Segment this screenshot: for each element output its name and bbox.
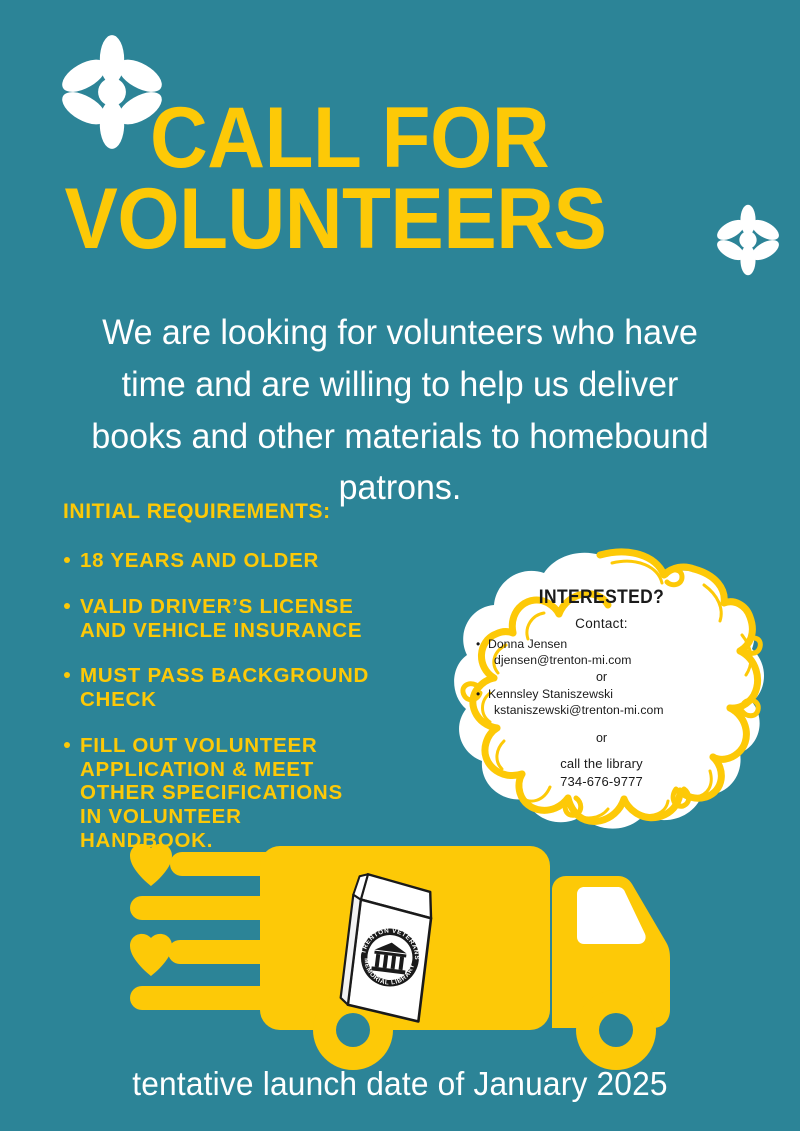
- call-library-label: call the library: [474, 755, 729, 772]
- contact-cloud-callout: INTERESTED? Contact: Donna Jensen djense…: [432, 545, 767, 835]
- call-library-block: call the library 734-676-9777: [474, 755, 729, 789]
- poster-canvas: CALL FOR VOLUNTEERS We are looking for v…: [0, 0, 800, 1131]
- delivery-truck-illustration: TRENTON VETERANS MEMORIAL LIBRARY: [120, 838, 690, 1083]
- contact-entry: Donna Jensen djensen@trenton-mi.com: [474, 637, 729, 668]
- contact-name: Donna Jensen: [488, 637, 729, 653]
- cloud-content: INTERESTED? Contact: Donna Jensen djense…: [474, 587, 729, 790]
- contact-email[interactable]: djensen@trenton-mi.com: [488, 653, 729, 669]
- page-title: CALL FOR VOLUNTEERS: [150, 98, 727, 261]
- headline-line-2: VOLUNTEERS: [64, 179, 726, 261]
- intro-paragraph: We are looking for volunteers who have t…: [80, 307, 720, 514]
- contact-label: Contact:: [474, 616, 729, 631]
- library-phone-number[interactable]: 734-676-9777: [474, 773, 729, 790]
- requirement-item: VALID DRIVER’S LICENSE AND VEHICLE INSUR…: [63, 595, 435, 643]
- requirements-section: INITIAL REQUIREMENTS: 18 YEARS AND OLDER…: [63, 500, 435, 875]
- library-book-icon: TRENTON VETERANS MEMORIAL LIBRARY: [339, 873, 435, 1022]
- or-separator: or: [474, 670, 729, 684]
- or-separator: or: [474, 731, 729, 745]
- requirement-item: 18 YEARS AND OLDER: [63, 549, 435, 573]
- headline-line-1: CALL FOR: [150, 98, 727, 180]
- contact-entry: Kennsley Staniszewski kstaniszewski@tren…: [474, 687, 729, 718]
- requirements-heading: INITIAL REQUIREMENTS:: [63, 500, 435, 524]
- launch-date-footer: tentative launch date of January 2025: [16, 1065, 784, 1103]
- heart-icon: [130, 934, 172, 976]
- interested-heading: INTERESTED?: [484, 587, 719, 609]
- contact-name: Kennsley Staniszewski: [488, 687, 729, 703]
- requirement-item: MUST PASS BACKGROUND CHECK: [63, 664, 435, 712]
- heart-icon: [130, 844, 172, 886]
- requirement-item: FILL OUT VOLUNTEER APPLICATION & MEET OT…: [63, 734, 435, 853]
- contact-email[interactable]: kstaniszewski@trenton-mi.com: [488, 703, 729, 719]
